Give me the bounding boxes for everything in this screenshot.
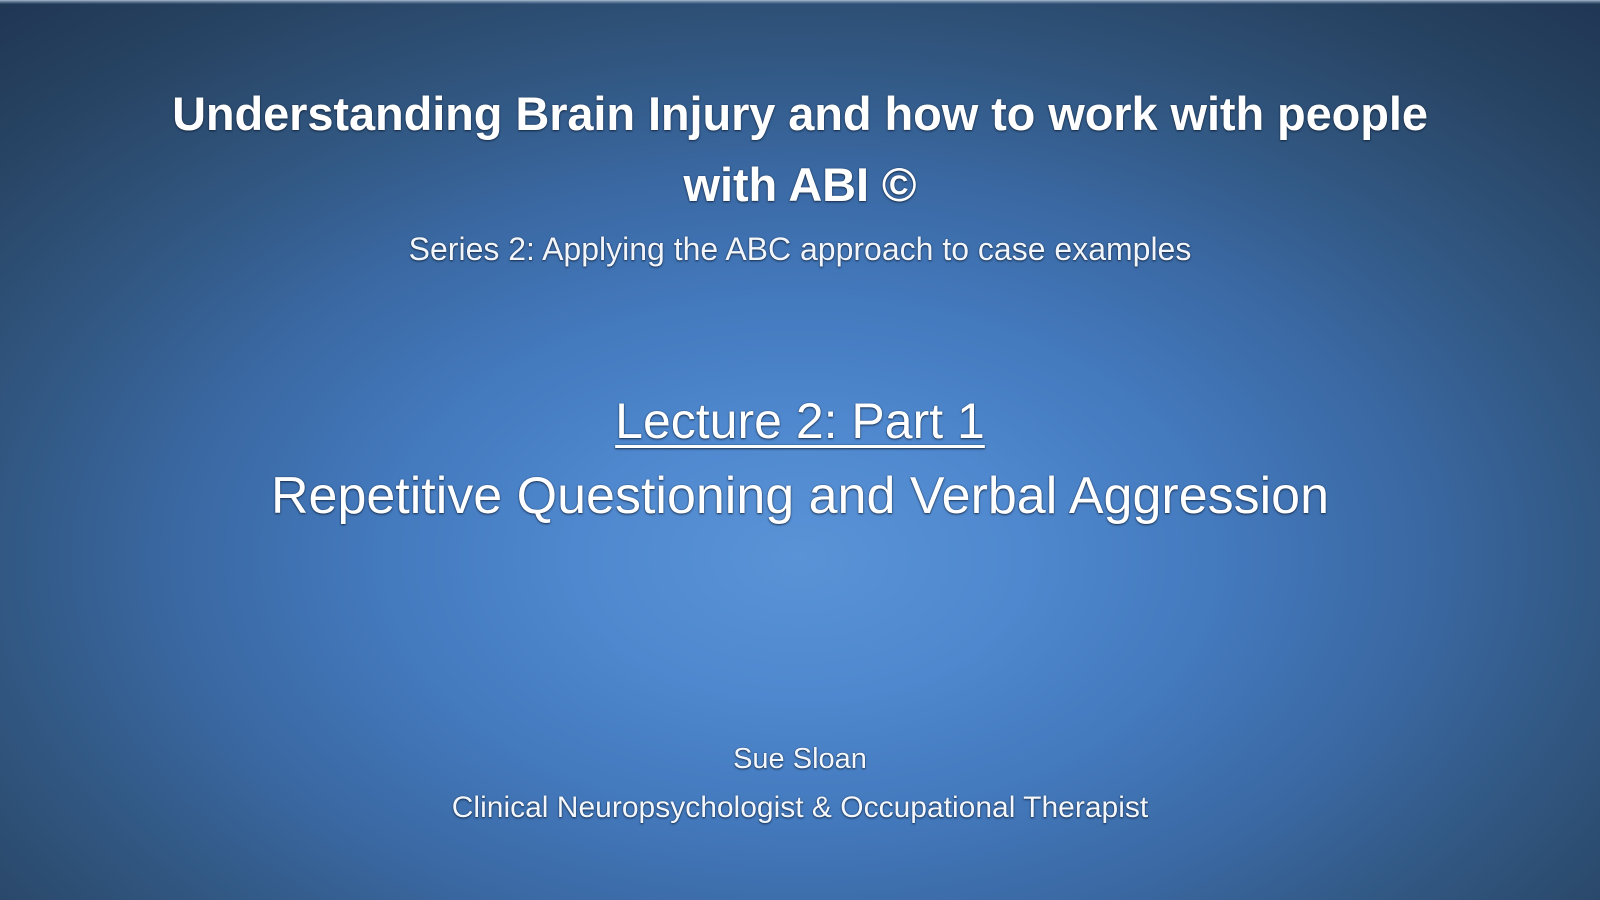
lecture-block: Lecture 2: Part 1 Repetitive Questioning… [0,389,1600,531]
series-subtitle: Series 2: Applying the ABC approach to c… [0,229,1600,269]
lecture-topic: Repetitive Questioning and Verbal Aggres… [0,463,1600,531]
title-slide: Understanding Brain Injury and how to wo… [0,0,1600,900]
lecture-label: Lecture 2: Part 1 [0,389,1600,453]
page-title: Understanding Brain Injury and how to wo… [0,78,1600,221]
lecture-label-text: Lecture 2: Part 1 [615,393,985,449]
author-role: Clinical Neuropsychologist & Occupationa… [0,788,1600,829]
heading-block: Understanding Brain Injury and how to wo… [0,78,1600,269]
credit-block: Sue Sloan Clinical Neuropsychologist & O… [0,740,1600,829]
author-name: Sue Sloan [0,740,1600,779]
slide-top-edge-strip [0,0,1600,4]
